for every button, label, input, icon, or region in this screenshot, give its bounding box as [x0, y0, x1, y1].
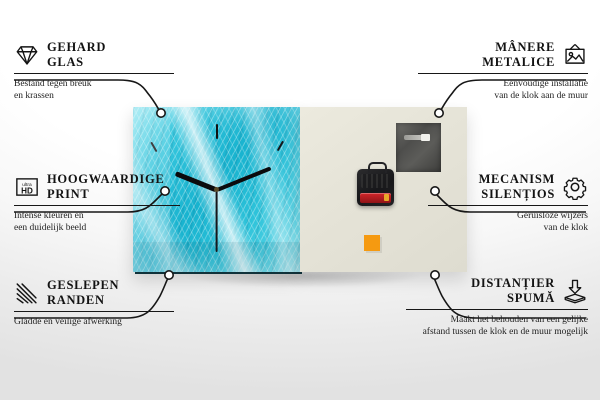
diagonal-lines-icon — [14, 280, 40, 306]
callout-desc: Intense kleuren en een duidelijk beeld — [14, 210, 180, 234]
clock-second-hand — [216, 190, 218, 252]
battery — [360, 193, 391, 203]
callout-desc: Bestand tegen breuk en krassen — [14, 78, 174, 102]
callout-geslepen-randen[interactable]: GESLEPEN RANDEN Gladde en veilige afwerk… — [14, 278, 174, 328]
callout-gehard-glas[interactable]: GEHARD GLAS Bestand tegen breuk en krass… — [14, 40, 174, 102]
callout-mecanism-silentios[interactable]: MECANISM SILENȚIOS Geruisloze wijzers va… — [428, 172, 588, 234]
callout-desc: Geruisloze wijzers van de klok — [428, 210, 588, 234]
callout-title: MÂNERE METALICE — [482, 40, 555, 70]
clock-hour-hand — [175, 171, 218, 192]
ultra-hd-big-text: HD — [21, 186, 33, 195]
callout-title: GESLEPEN RANDEN — [47, 278, 119, 308]
callout-desc: Gladde en veilige afwerking — [14, 316, 174, 328]
callout-rule — [406, 309, 588, 311]
clock-center-cap — [214, 187, 219, 192]
ultra-hd-icon: ultra HD — [14, 174, 40, 200]
callout-rule — [14, 73, 174, 75]
gear-icon — [562, 174, 588, 200]
clock-mechanism — [357, 169, 394, 206]
clock-minute-hand — [216, 166, 271, 191]
callout-distantier-spuma[interactable]: DISTANȚIER SPUMĂ Maakt het behouden van … — [406, 276, 588, 338]
callout-title: GEHARD GLAS — [47, 40, 106, 70]
callout-title: DISTANȚIER SPUMĂ — [471, 276, 555, 306]
callout-rule — [14, 311, 174, 313]
down-arrow-onto-pad-icon — [562, 278, 588, 304]
callout-hoogwaardige-print[interactable]: ultra HD HOOGWAARDIGE PRINT Intense kleu… — [14, 172, 180, 234]
callout-rule — [14, 205, 180, 207]
callout-manere-metalice[interactable]: MÂNERE METALICE Eenvoudige installatie v… — [418, 40, 588, 102]
callout-desc: Maakt het behouden van een gelijke afsta… — [406, 314, 588, 338]
metal-hanger-plate — [396, 123, 441, 172]
mechanism-hook — [368, 162, 387, 173]
hanging-picture-frame-icon — [562, 42, 588, 68]
infographic-stage: GEHARD GLAS Bestand tegen breuk en krass… — [0, 0, 600, 400]
callout-title: MECANISM SILENȚIOS — [479, 172, 555, 202]
hanger-slot — [404, 135, 430, 140]
callout-desc: Eenvoudige installatie van de klok aan d… — [418, 78, 588, 102]
callout-rule — [428, 205, 588, 207]
mechanism-housing-detail — [361, 174, 390, 188]
callout-rule — [418, 73, 588, 75]
callout-title: HOOGWAARDIGE PRINT — [47, 172, 164, 202]
diamond-icon — [14, 42, 40, 68]
product-image — [133, 107, 467, 272]
foam-spacer — [364, 235, 380, 251]
